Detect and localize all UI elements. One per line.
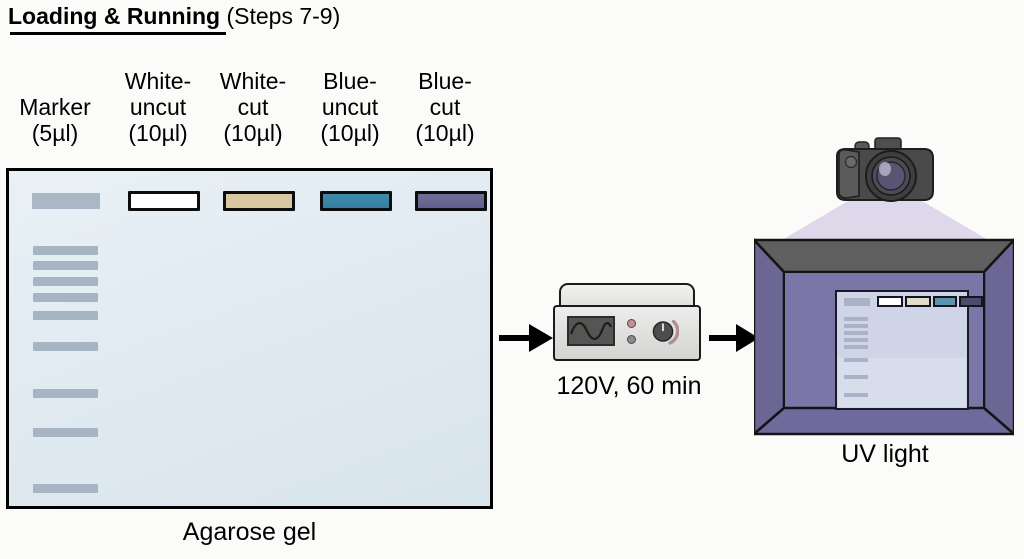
marker-band: [33, 261, 98, 270]
status-indicator-led: [627, 335, 636, 344]
lane-header-white-uncut-volume: (10µl): [108, 120, 208, 146]
lane-header-white-cut: White- cut (10µl): [203, 68, 303, 146]
flow-arrow-gel-to-power: [499, 320, 555, 356]
title-bold: Loading & Running: [8, 3, 220, 29]
agarose-gel: [6, 168, 493, 509]
power-supply-front-panel: [553, 305, 701, 361]
section-title: Loading & Running (Steps 7-9): [8, 2, 468, 36]
uv-light-label: UV light: [750, 440, 1020, 469]
lane-header-white-cut-line2: cut: [203, 94, 303, 120]
marker-band: [33, 293, 98, 302]
lane-header-white-uncut-line1: White-: [108, 68, 208, 94]
marker-band: [33, 246, 98, 255]
lane-header-blue-uncut-line1: Blue-: [300, 68, 400, 94]
lane-header-white-uncut-line2: uncut: [108, 94, 208, 120]
marker-band-loading: [32, 193, 100, 209]
lane-header-marker-volume: (5µl): [5, 120, 105, 146]
lane-header-blue-cut-line2: cut: [395, 94, 495, 120]
lane-header-blue-cut-volume: (10µl): [395, 120, 495, 146]
title-normal: (Steps 7-9): [220, 3, 340, 29]
marker-band: [33, 277, 98, 286]
lane-header-marker-line1: Marker: [5, 94, 105, 120]
marker-band: [33, 484, 98, 493]
gel-well-blue-uncut[interactable]: [320, 191, 392, 211]
gel-lane-headers: Marker (5µl) White- uncut (10µl) White- …: [0, 58, 500, 156]
diagram-canvas: Loading & Running (Steps 7-9) Marker (5µ…: [0, 0, 1024, 559]
lane-header-blue-uncut-line2: uncut: [300, 94, 400, 120]
power-supply-unit: [553, 283, 701, 361]
lane-header-blue-uncut-volume: (10µl): [300, 120, 400, 146]
uv-transilluminator: [754, 238, 1014, 442]
lane-header-blue-cut: Blue- cut (10µl): [395, 68, 495, 146]
marker-band: [33, 311, 98, 320]
marker-band: [33, 428, 98, 437]
gel-well-white-uncut[interactable]: [128, 191, 200, 211]
lane-header-white-cut-line1: White-: [203, 68, 303, 94]
marker-band: [33, 389, 98, 398]
power-supply-display: [567, 316, 615, 346]
lane-header-white-cut-volume: (10µl): [203, 120, 303, 146]
title-underline: [10, 32, 226, 35]
gel-caption: Agarose gel: [6, 518, 493, 547]
lane-header-blue-cut-line1: Blue-: [395, 68, 495, 94]
power-indicator-led: [627, 319, 636, 328]
gel-well-blue-cut[interactable]: [415, 191, 487, 211]
marker-band: [33, 342, 98, 351]
gel-well-white-cut[interactable]: [223, 191, 295, 211]
lane-header-blue-uncut: Blue- uncut (10µl): [300, 68, 400, 146]
lane-header-white-uncut: White- uncut (10µl): [108, 68, 208, 146]
camera: [829, 136, 941, 212]
lane-header-marker: Marker (5µl): [5, 94, 105, 146]
page-title: Loading & Running (Steps 7-9): [8, 2, 468, 30]
power-supply-label: 120V, 60 min: [524, 372, 734, 401]
voltage-knob[interactable]: [648, 316, 679, 347]
